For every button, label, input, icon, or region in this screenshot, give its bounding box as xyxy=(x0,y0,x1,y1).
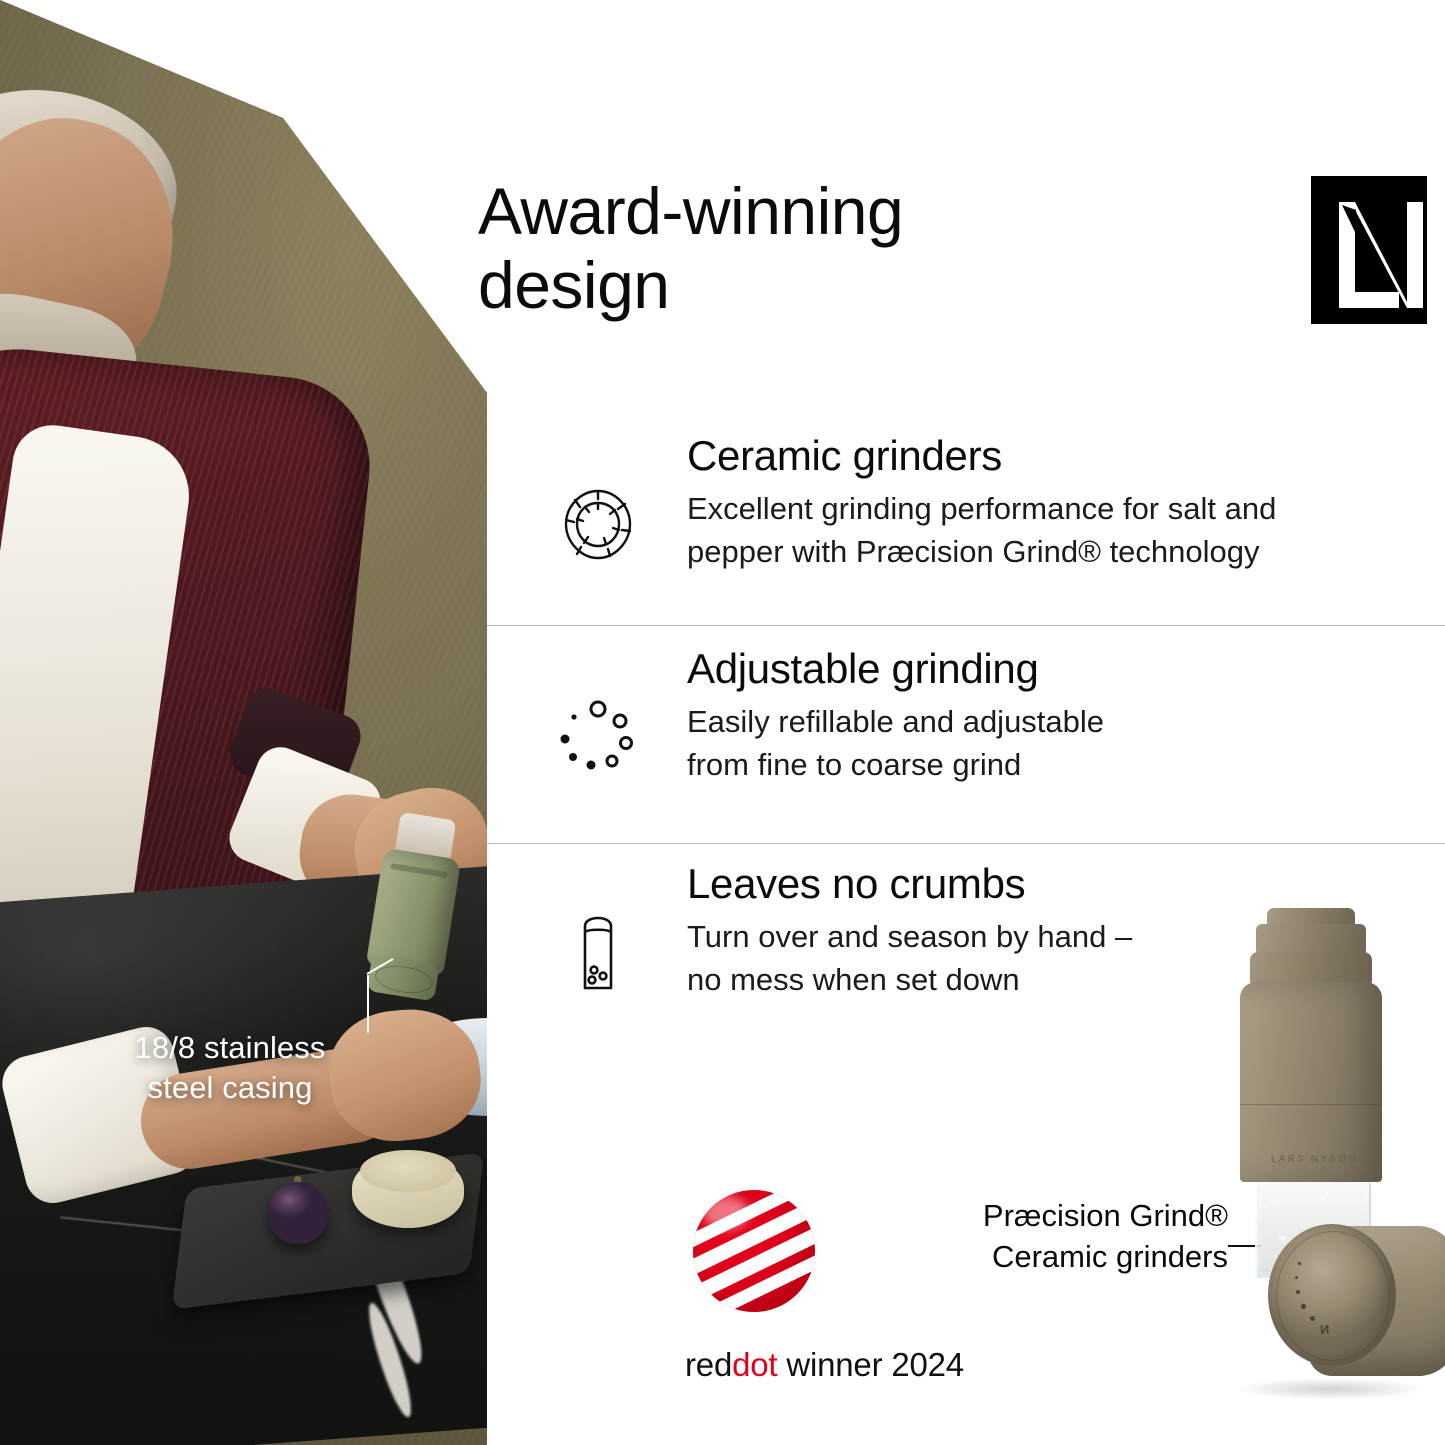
grind-scale-dot xyxy=(1310,1316,1315,1321)
feature-desc-line2: from fine to coarse grind xyxy=(687,747,1021,782)
cheese-wheel-top xyxy=(360,1150,456,1192)
sphere-highlight xyxy=(703,1196,749,1230)
grinder-lying: N xyxy=(1268,1218,1445,1393)
feature-description: Excellent grinding performance for salt … xyxy=(687,487,1415,574)
award-text-red: red xyxy=(685,1346,732,1383)
feature-desc-line1: Excellent grinding performance for salt … xyxy=(687,491,1276,526)
grinder-cap-ln-icon: N xyxy=(1320,1322,1329,1337)
photo-callout-leader-line xyxy=(367,975,369,1033)
photo-callout-line1: 18/8 stainless xyxy=(30,1028,430,1068)
feature-divider xyxy=(487,625,1445,626)
feature-desc-line2: no mess when set down xyxy=(687,962,1020,997)
feature-divider xyxy=(487,843,1445,844)
red-dot-sphere-icon xyxy=(693,1190,815,1312)
feature-title: Adjustable grinding xyxy=(687,645,1415,692)
grinder-cap-ring xyxy=(1276,1231,1390,1361)
page-title: Award-winning design xyxy=(478,175,903,323)
grinder-brand-text: LARS NYSØM xyxy=(1271,1154,1359,1165)
grind-scale-dot xyxy=(1301,1304,1306,1309)
photo-callout-text: 18/8 stainless steel casing xyxy=(30,1028,430,1109)
headline-line2: design xyxy=(478,249,903,323)
infographic-canvas: 18/8 stainless steel casing Award-winnin… xyxy=(0,0,1445,1445)
grind-particles-icon xyxy=(555,695,641,781)
photo-callout-line2: steel casing xyxy=(30,1068,430,1108)
feature-desc-line1: Turn over and season by hand – xyxy=(687,919,1132,954)
award-text-rest: winner 2024 xyxy=(777,1346,964,1383)
lifestyle-photo: 18/8 stainless steel casing xyxy=(0,0,487,1445)
ln-monogram-icon xyxy=(1311,176,1427,324)
feature-text-block: Ceramic grinders Excellent grinding perf… xyxy=(687,432,1445,574)
grinder-seam xyxy=(1240,1104,1382,1105)
feature-row-adjustable-grinding: Adjustable grinding Easily refillable an… xyxy=(487,645,1445,787)
feature-text-block: Adjustable grinding Easily refillable an… xyxy=(687,645,1445,787)
product-shadow xyxy=(1235,1378,1425,1400)
product-photo: LARS NYSØM N xyxy=(1180,880,1445,1445)
brand-logo xyxy=(1311,176,1427,324)
feature-desc-line1: Easily refillable and adjustable xyxy=(687,704,1104,739)
ceramic-burr-icon xyxy=(555,482,641,568)
grind-scale-dot xyxy=(1298,1262,1301,1265)
feature-row-ceramic-grinders: Ceramic grinders Excellent grinding perf… xyxy=(487,432,1445,574)
feature-title: Ceramic grinders xyxy=(687,432,1415,479)
grinder-no-crumbs-icon xyxy=(555,910,641,996)
feature-description: Easily refillable and adjustable from fi… xyxy=(687,700,1415,787)
fig-fruit xyxy=(268,1182,328,1244)
feature-desc-line2: pepper with Præcision Grind® technology xyxy=(687,534,1260,569)
award-caption: reddot winner 2024 xyxy=(685,1346,1045,1384)
headline-line1: Award-winning xyxy=(478,175,903,249)
grind-scale-dot xyxy=(1295,1276,1298,1279)
grind-scale-dot xyxy=(1296,1290,1300,1294)
grinder-body xyxy=(1240,982,1382,1182)
award-text-dot: dot xyxy=(732,1346,777,1383)
